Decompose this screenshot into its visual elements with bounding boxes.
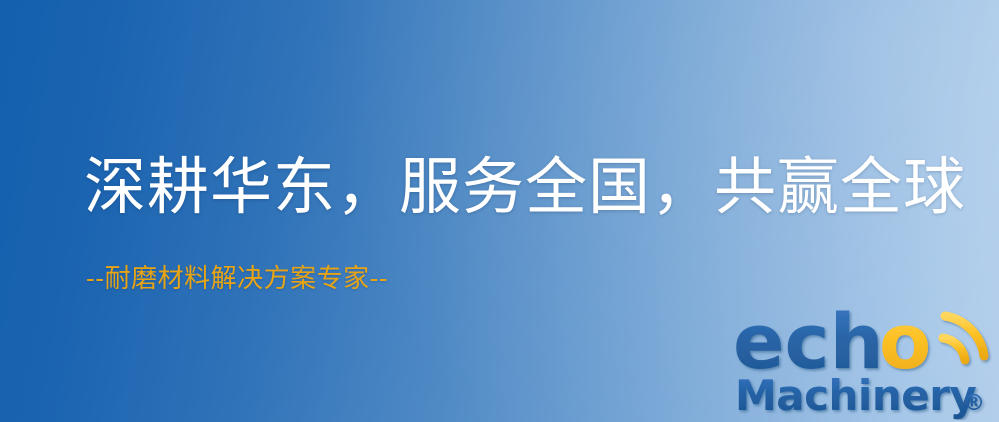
signal-arcs-icon (943, 316, 984, 360)
logo-machinery-text: Machinery (735, 371, 976, 420)
banner-headline: 深耕华东，服务全国，共赢全球 (84, 156, 966, 218)
logo-tagline-group: Machinery ® (735, 371, 985, 420)
registered-trademark-icon: ® (963, 391, 985, 416)
banner-subtitle: --耐磨材料解决方案专家-- (86, 266, 388, 292)
echo-machinery-logo: ech o Machinery ® (731, 290, 993, 420)
logo-svg: ech o Machinery ® (731, 290, 993, 420)
hero-banner: 深耕华东，服务全国，共赢全球 --耐磨材料解决方案专家-- (0, 0, 999, 422)
